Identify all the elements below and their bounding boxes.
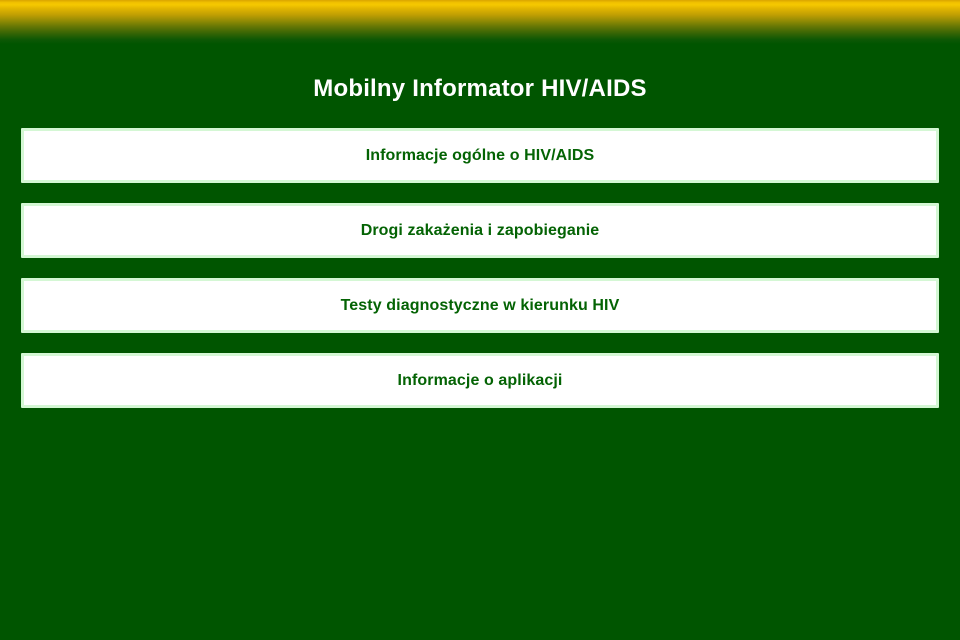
menu-item-label: Drogi zakażenia i zapobieganie [24, 206, 936, 255]
menu-item-label: Informacje o aplikacji [24, 356, 936, 405]
menu-item-label: Testy diagnostyczne w kierunku HIV [24, 281, 936, 330]
menu-item-informacje-o-aplikacji[interactable]: Informacje o aplikacji [21, 353, 939, 408]
page-title: Mobilny Informator HIV/AIDS [0, 74, 960, 104]
menu-item-informacje-ogolne[interactable]: Informacje ogólne o HIV/AIDS [21, 128, 939, 183]
menu-item-label: Informacje ogólne o HIV/AIDS [24, 131, 936, 180]
menu-item-testy-diagnostyczne[interactable]: Testy diagnostyczne w kierunku HIV [21, 278, 939, 333]
header-gradient-banner [0, 0, 960, 44]
menu-item-drogi-zakazenia[interactable]: Drogi zakażenia i zapobieganie [21, 203, 939, 258]
main-menu: Informacje ogólne o HIV/AIDS Drogi zakaż… [21, 128, 939, 408]
app-root: Mobilny Informator HIV/AIDS Informacje o… [0, 0, 960, 640]
